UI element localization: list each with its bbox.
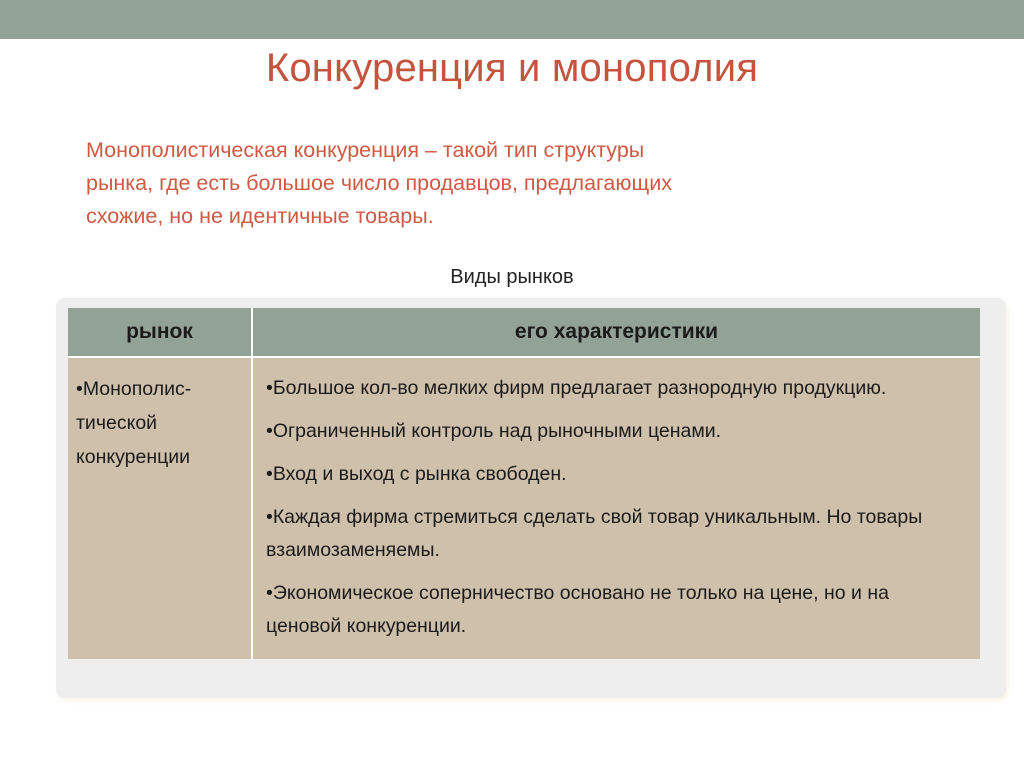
characteristics-cell-content: •Большое кол-во мелких фирм предлагает р… [253, 358, 980, 659]
table-body: •Монополис- тической конкуренции •Большо… [68, 358, 980, 659]
page-title: Конкуренция и монополия [0, 42, 1024, 94]
table-caption: Виды рынков [0, 263, 1024, 291]
characteristic-item: •Ограниченный контроль над рыночными цен… [266, 415, 966, 448]
table-header: рынок его характеристики [68, 308, 980, 358]
characteristic-item: •Экономическое соперничество основано не… [266, 577, 966, 643]
characteristic-item: •Вход и выход с рынка свободен. [266, 458, 966, 491]
market-name-line-3: конкуренции [76, 440, 239, 474]
top-decorative-bar [0, 0, 1024, 39]
market-types-table: рынок его характеристики •Монополис- тич… [68, 308, 980, 659]
table-cell-market: •Монополис- тической конкуренции [68, 358, 253, 659]
intro-paragraph: Монополистическая конкуренция – такой ти… [86, 134, 986, 233]
market-name-line-2: тической [76, 406, 239, 440]
intro-paragraph-line-1: Монополистическая конкуренция – такой ти… [86, 134, 986, 167]
characteristic-item: •Каждая фирма стремиться сделать свой то… [266, 501, 966, 567]
table-row: •Монополис- тической конкуренции •Большо… [68, 358, 980, 659]
table-cell-characteristics: •Большое кол-во мелких фирм предлагает р… [253, 358, 980, 659]
characteristic-item: •Большое кол-во мелких фирм предлагает р… [266, 372, 966, 405]
table-header-row: рынок его характеристики [68, 308, 980, 358]
intro-paragraph-line-2: рынка, где есть большое число продавцов,… [86, 167, 986, 200]
intro-paragraph-line-3: схожие, но не идентичные товары. [86, 200, 986, 233]
market-name-line-1: •Монополис- [76, 372, 239, 406]
market-cell-content: •Монополис- тической конкуренции [68, 358, 251, 658]
table-header-characteristics: его характеристики [253, 308, 980, 358]
table-header-market: рынок [68, 308, 253, 358]
